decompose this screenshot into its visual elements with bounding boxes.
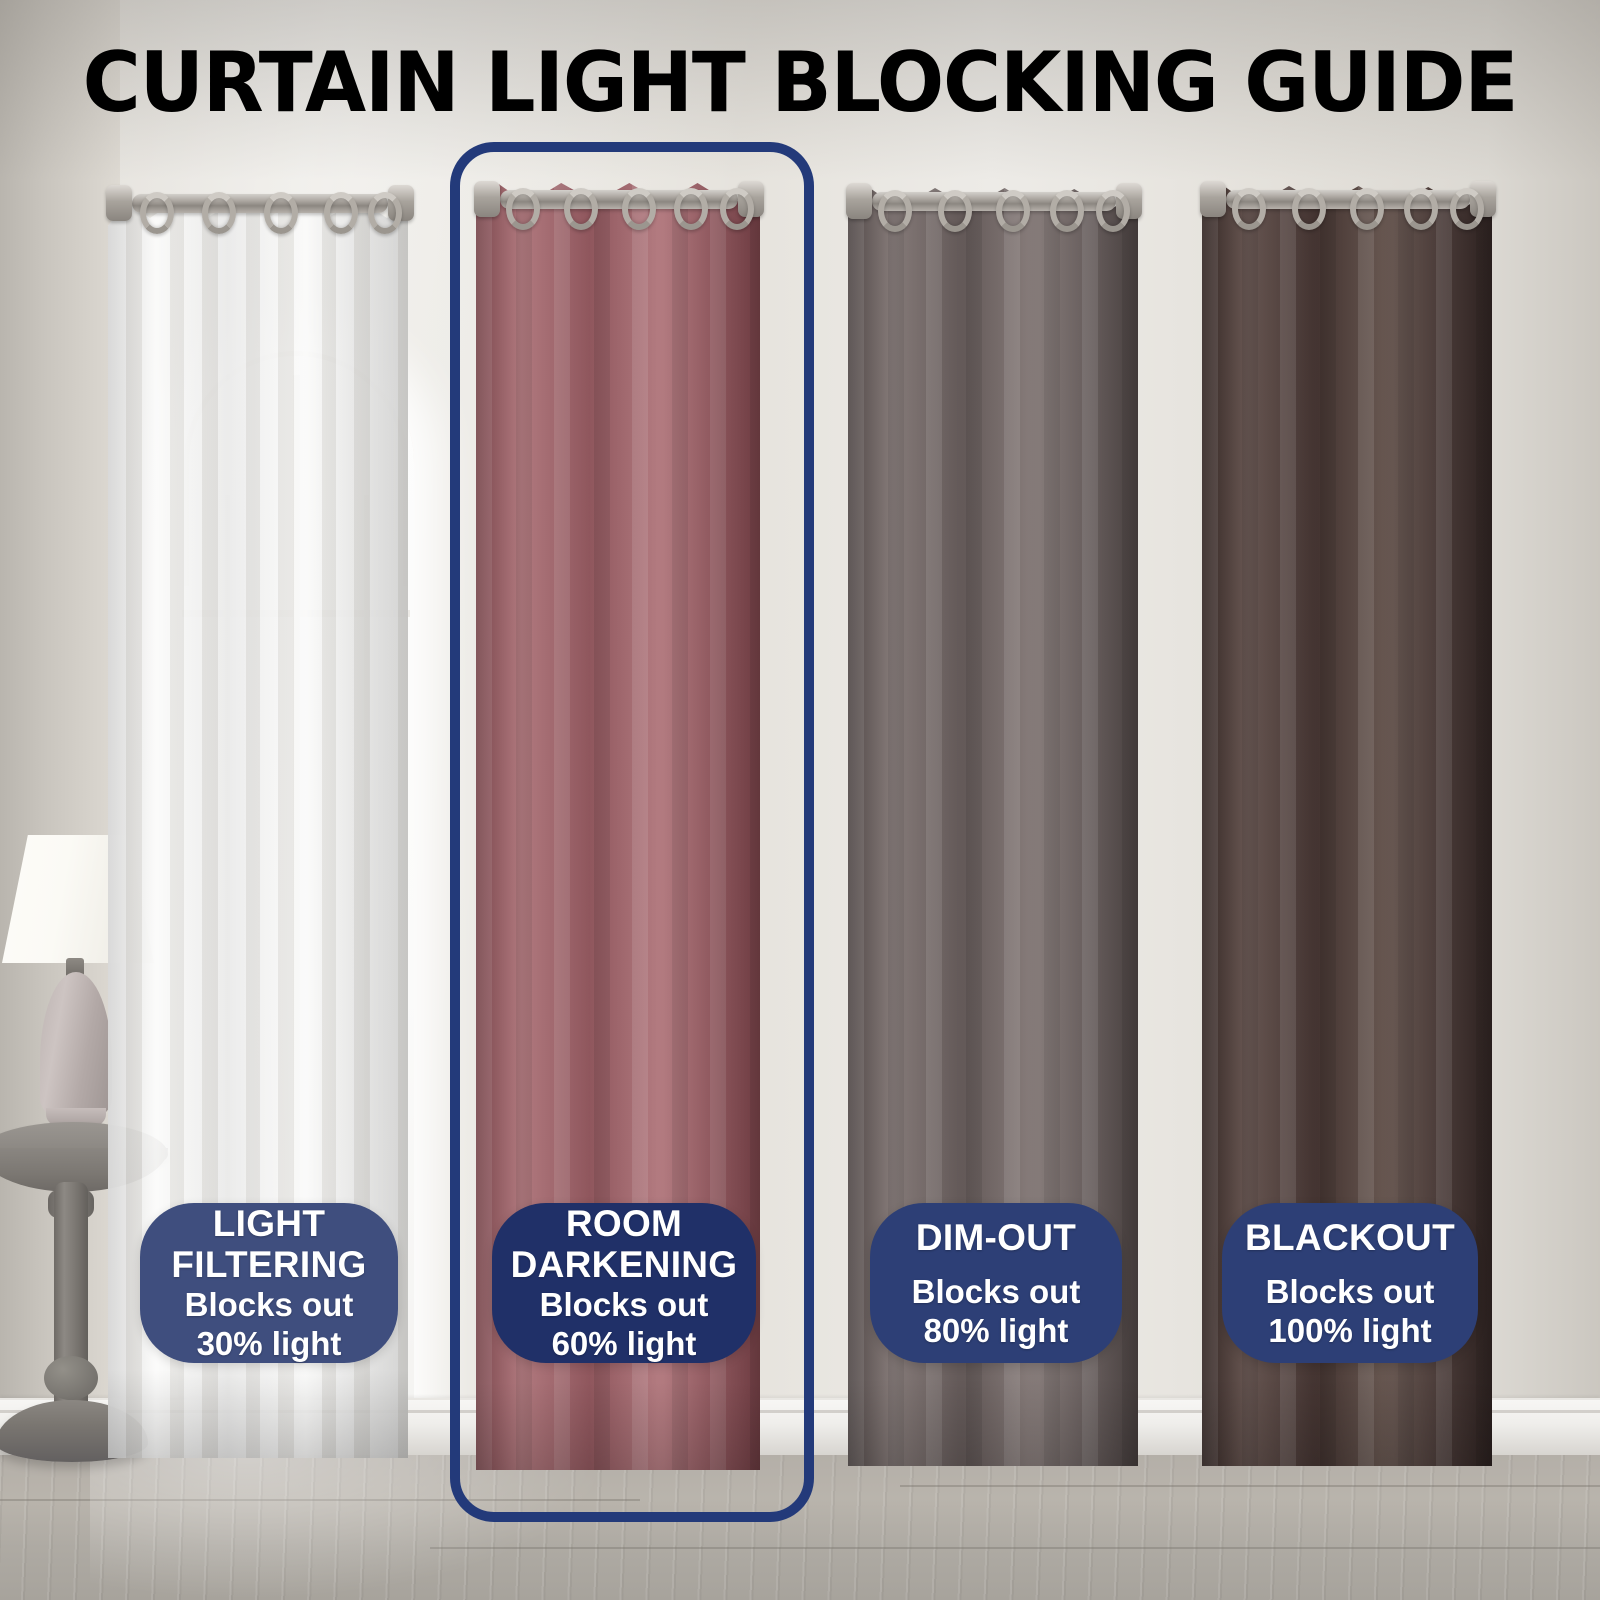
curtain-rod-finial-left [106, 185, 132, 221]
badge-subtitle-line-1: Blocks out [540, 1285, 709, 1324]
badge-title-line-1: DIM-OUT [916, 1217, 1076, 1258]
curtain-rod-dim-out [846, 170, 1142, 234]
curtain-grommet [996, 190, 1030, 232]
curtain-grommet [324, 192, 358, 234]
curtain-grommet [1404, 188, 1438, 230]
curtain-grommet [1292, 188, 1326, 230]
curtain-grommet [1232, 188, 1266, 230]
badge-dim-out[interactable]: DIM-OUT Blocks out 80% light [870, 1203, 1122, 1363]
badge-subtitle-line-1: Blocks out [1266, 1272, 1435, 1311]
curtain-grommet [1450, 188, 1484, 230]
curtain-hem [1202, 1378, 1492, 1466]
badge-title-line-1: ROOM [566, 1203, 682, 1244]
badge-room-darkening[interactable]: ROOM DARKENING Blocks out 60% light [492, 1203, 756, 1363]
floor-plank-seam [900, 1485, 1600, 1487]
badge-subtitle-line-2: 60% light [552, 1324, 697, 1363]
curtain-grommet [202, 192, 236, 234]
badge-subtitle-line-2: 100% light [1268, 1311, 1431, 1350]
curtain-rod-light-filtering [106, 172, 414, 236]
curtain-grommet [720, 188, 754, 230]
curtain-rod-room-darkening [474, 168, 764, 232]
infographic-canvas: LIGHT FILTERING Blocks out 30% light ROO… [0, 0, 1600, 1600]
badge-blackout[interactable]: BLACKOUT Blocks out 100% light [1222, 1203, 1478, 1363]
badge-subtitle-line-2: 30% light [197, 1324, 342, 1363]
curtain-grommet [878, 190, 912, 232]
badge-subtitle-line-1: Blocks out [185, 1285, 354, 1324]
badge-subtitle-line-1: Blocks out [912, 1272, 1081, 1311]
badge-title-line-2: DARKENING [511, 1244, 738, 1285]
curtain-grommet [622, 188, 656, 230]
curtain-grommet [264, 192, 298, 234]
badge-subtitle-line-2: 80% light [924, 1311, 1069, 1350]
curtain-grommet [938, 190, 972, 232]
curtain-rod-blackout [1200, 168, 1496, 232]
curtain-grommet [506, 188, 540, 230]
curtain-hem [476, 1382, 760, 1470]
curtain-grommet [1096, 190, 1130, 232]
curtain-grommet [1350, 188, 1384, 230]
badge-title-line-1: LIGHT [213, 1203, 325, 1244]
badge-title-line-2: FILTERING [171, 1244, 366, 1285]
curtain-grommet [564, 188, 598, 230]
curtain-grommet [368, 192, 402, 234]
badge-title-line-1: BLACKOUT [1245, 1217, 1455, 1258]
badge-light-filtering[interactable]: LIGHT FILTERING Blocks out 30% light [140, 1203, 398, 1363]
curtain-hem [108, 1370, 408, 1458]
curtain-hem [848, 1378, 1138, 1466]
curtain-grommet [674, 188, 708, 230]
floor-light-pool [90, 1455, 610, 1600]
curtain-rod-finial-left [1200, 181, 1226, 217]
curtain-rod-finial-left [474, 181, 500, 217]
page-title: CURTAIN LIGHT BLOCKING GUIDE [0, 40, 1600, 126]
curtain-grommet [1050, 190, 1084, 232]
curtain-grommet [140, 192, 174, 234]
side-table-knob [44, 1356, 98, 1400]
curtain-rod-finial-left [846, 183, 872, 219]
